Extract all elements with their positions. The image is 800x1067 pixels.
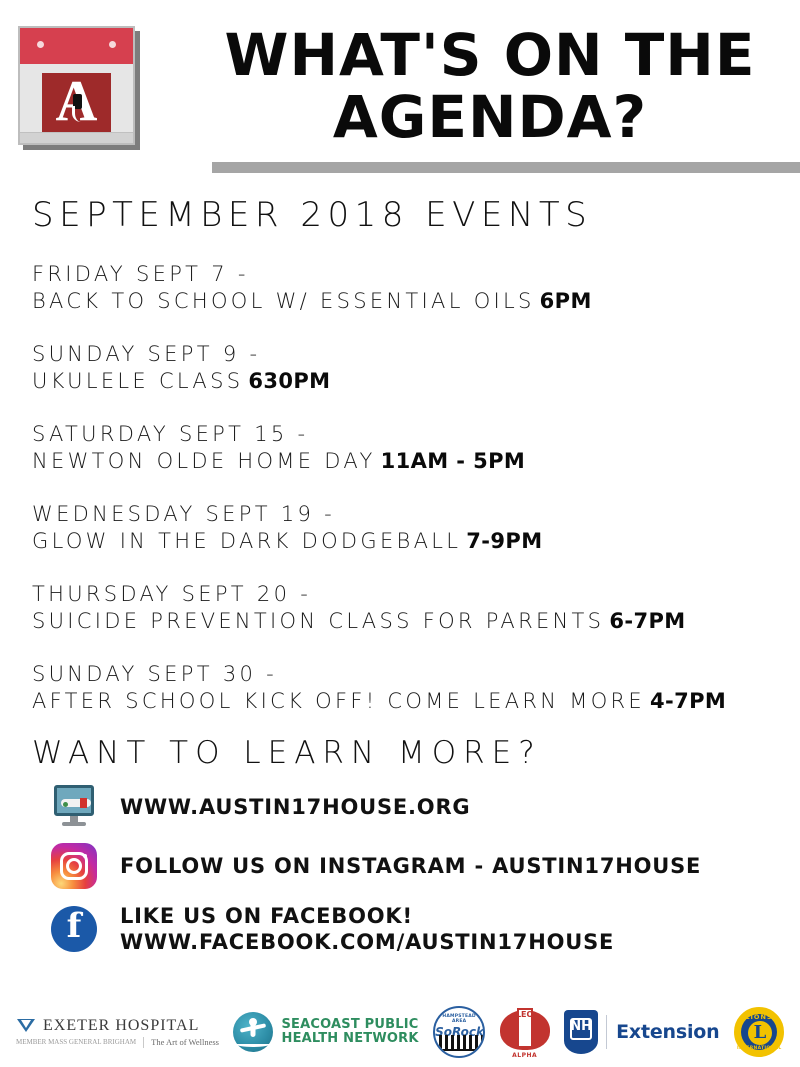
facebook-letter: f xyxy=(51,903,97,949)
event-time: 4-7PM xyxy=(650,689,726,713)
learn-more-heading: WANT TO LEARN MORE? xyxy=(32,735,800,771)
nh-letters: NH xyxy=(564,1019,598,1034)
facebook-line-2: WWW.FACEBOOK.COM/AUSTIN17HOUSE xyxy=(120,930,614,954)
exeter-chevron-icon xyxy=(16,1018,36,1034)
event-name-line: UKULELE CLASS630PM xyxy=(32,368,800,395)
exeter-divider xyxy=(143,1037,144,1048)
event-time: 6-7PM xyxy=(609,609,685,633)
learn-more-section: WANT TO LEARN MORE? WWW.AUSTIN17HOUSE.OR… xyxy=(0,735,800,955)
sponsor-exeter-hospital: EXETER HOSPITAL MEMBER MASS GENERAL BRIG… xyxy=(16,1017,219,1048)
sponsor-lions-club: LIONS L INTERNATIONAL xyxy=(734,1007,784,1057)
facebook-line-1: LIKE US ON FACEBOOK! xyxy=(120,904,413,928)
events-heading: SEPTEMBER 2018 EVENTS xyxy=(32,195,800,235)
exeter-name: EXETER HOSPITAL xyxy=(43,1017,199,1035)
lions-bottom-text: INTERNATIONAL xyxy=(737,1046,781,1051)
nh-shield-icon: NH xyxy=(564,1010,598,1054)
event-name-line: AFTER SCHOOL KICK OFF! COME LEARN MORE4-… xyxy=(32,688,800,715)
calendar-body: A xyxy=(18,26,135,145)
monitor-icon xyxy=(48,785,100,829)
facebook-icon: f xyxy=(48,906,100,952)
calendar-hole-right xyxy=(109,41,116,48)
event-name-line: NEWTON OLDE HOME DAY11AM - 5PM xyxy=(32,448,800,475)
event-item: SUNDAY SEPT 9 - UKULELE CLASS630PM xyxy=(32,341,800,395)
events-section: SEPTEMBER 2018 EVENTS FRIDAY SEPT 7 - BA… xyxy=(0,195,800,715)
event-time: 6PM xyxy=(540,289,592,313)
seacoast-name: SEACOAST PUBLIC HEALTH NETWORK xyxy=(281,1018,418,1046)
lions-top-text: LIONS xyxy=(737,1013,781,1021)
event-date-line: THURSDAY SEPT 20 - xyxy=(32,581,800,608)
sorock-badge-icon: HAMPSTEAD AREA SoRock xyxy=(433,1006,485,1058)
event-date-line: SUNDAY SEPT 30 - xyxy=(32,661,800,688)
event-name-line: GLOW IN THE DARK DODGEBALL7-9PM xyxy=(32,528,800,555)
seacoast-line-2: HEALTH NETWORK xyxy=(281,1031,418,1046)
sponsor-unh-extension: NH Extension xyxy=(564,1010,719,1054)
austin17-a-mark: A xyxy=(42,73,111,135)
instagram-icon xyxy=(48,843,100,889)
event-name-line: BACK TO SCHOOL W/ ESSENTIAL OILS6PM xyxy=(32,288,800,315)
event-date-line: SUNDAY SEPT 9 - xyxy=(32,341,800,368)
event-date-line: SATURDAY SEPT 15 - xyxy=(32,421,800,448)
sponsor-sorock: HAMPSTEAD AREA SoRock xyxy=(433,1006,485,1058)
exeter-affiliate: MEMBER MASS GENERAL BRIGHAM xyxy=(16,1038,136,1046)
event-date-line: FRIDAY SEPT 7 - xyxy=(32,261,800,288)
calendar-base xyxy=(20,132,133,143)
exeter-tagline: The Art of Wellness xyxy=(151,1037,219,1047)
event-name: NEWTON OLDE HOME DAY xyxy=(32,449,376,473)
event-name-line: SUICIDE PREVENTION CLASS FOR PARENTS6-7P… xyxy=(32,608,800,635)
leo-name: LEO xyxy=(500,1010,550,1019)
instagram-row[interactable]: FOLLOW US ON INSTAGRAM - AUSTIN17HOUSE xyxy=(48,843,800,889)
facebook-text: LIKE US ON FACEBOOK! WWW.FACEBOOK.COM/AU… xyxy=(120,903,614,955)
leo-sub: ALPHA xyxy=(500,1052,550,1059)
calendar-header-band xyxy=(20,28,133,64)
event-item: THURSDAY SEPT 20 - SUICIDE PREVENTION CL… xyxy=(32,581,800,635)
event-item: SATURDAY SEPT 15 - NEWTON OLDE HOME DAY1… xyxy=(32,421,800,475)
instagram-text: FOLLOW US ON INSTAGRAM - AUSTIN17HOUSE xyxy=(120,853,701,879)
event-name: UKULELE CLASS xyxy=(32,369,243,393)
sponsor-seacoast-public-health-network: SEACOAST PUBLIC HEALTH NETWORK xyxy=(233,1012,418,1052)
event-name: BACK TO SCHOOL W/ ESSENTIAL OILS xyxy=(32,289,535,313)
sorock-crowd-icon xyxy=(439,1035,483,1051)
event-item: WEDNESDAY SEPT 19 - GLOW IN THE DARK DOD… xyxy=(32,501,800,555)
calendar-hole-left xyxy=(37,41,44,48)
sorock-top-text: HAMPSTEAD AREA xyxy=(435,1014,483,1024)
event-name: SUICIDE PREVENTION CLASS FOR PARENTS xyxy=(32,609,604,633)
leo-lion-icon: LEO ALPHA xyxy=(500,1006,550,1058)
nh-divider xyxy=(606,1015,607,1049)
header: A WHAT'S ON THE AGENDA? xyxy=(0,0,800,186)
website-text: WWW.AUSTIN17HOUSE.ORG xyxy=(120,794,470,820)
lions-emblem-icon: LIONS L INTERNATIONAL xyxy=(734,1007,784,1057)
calendar-logo-icon: A xyxy=(18,26,140,150)
event-item: SUNDAY SEPT 30 - AFTER SCHOOL KICK OFF! … xyxy=(32,661,800,715)
sponsor-leo-club: LEO ALPHA xyxy=(500,1006,550,1058)
event-time: 11AM - 5PM xyxy=(381,449,526,473)
page-title: WHAT'S ON THE AGENDA? xyxy=(190,24,790,148)
event-time: 630PM xyxy=(248,369,330,393)
event-time: 7-9PM xyxy=(466,529,542,553)
lions-letter: L xyxy=(748,1021,772,1045)
nh-extension-word: Extension xyxy=(616,1021,719,1043)
title-divider xyxy=(212,162,800,173)
event-date-line: WEDNESDAY SEPT 19 - xyxy=(32,501,800,528)
seacoast-figure-icon xyxy=(233,1012,273,1052)
seacoast-line-1: SEACOAST PUBLIC xyxy=(281,1017,418,1032)
sponsor-logos-bar: EXETER HOSPITAL MEMBER MASS GENERAL BRIG… xyxy=(0,997,800,1067)
website-row[interactable]: WWW.AUSTIN17HOUSE.ORG xyxy=(48,785,800,829)
event-item: FRIDAY SEPT 7 - BACK TO SCHOOL W/ ESSENT… xyxy=(32,261,800,315)
event-name: GLOW IN THE DARK DODGEBALL xyxy=(32,529,461,553)
facebook-row[interactable]: f LIKE US ON FACEBOOK! WWW.FACEBOOK.COM/… xyxy=(48,903,800,955)
event-name: AFTER SCHOOL KICK OFF! COME LEARN MORE xyxy=(32,689,645,713)
